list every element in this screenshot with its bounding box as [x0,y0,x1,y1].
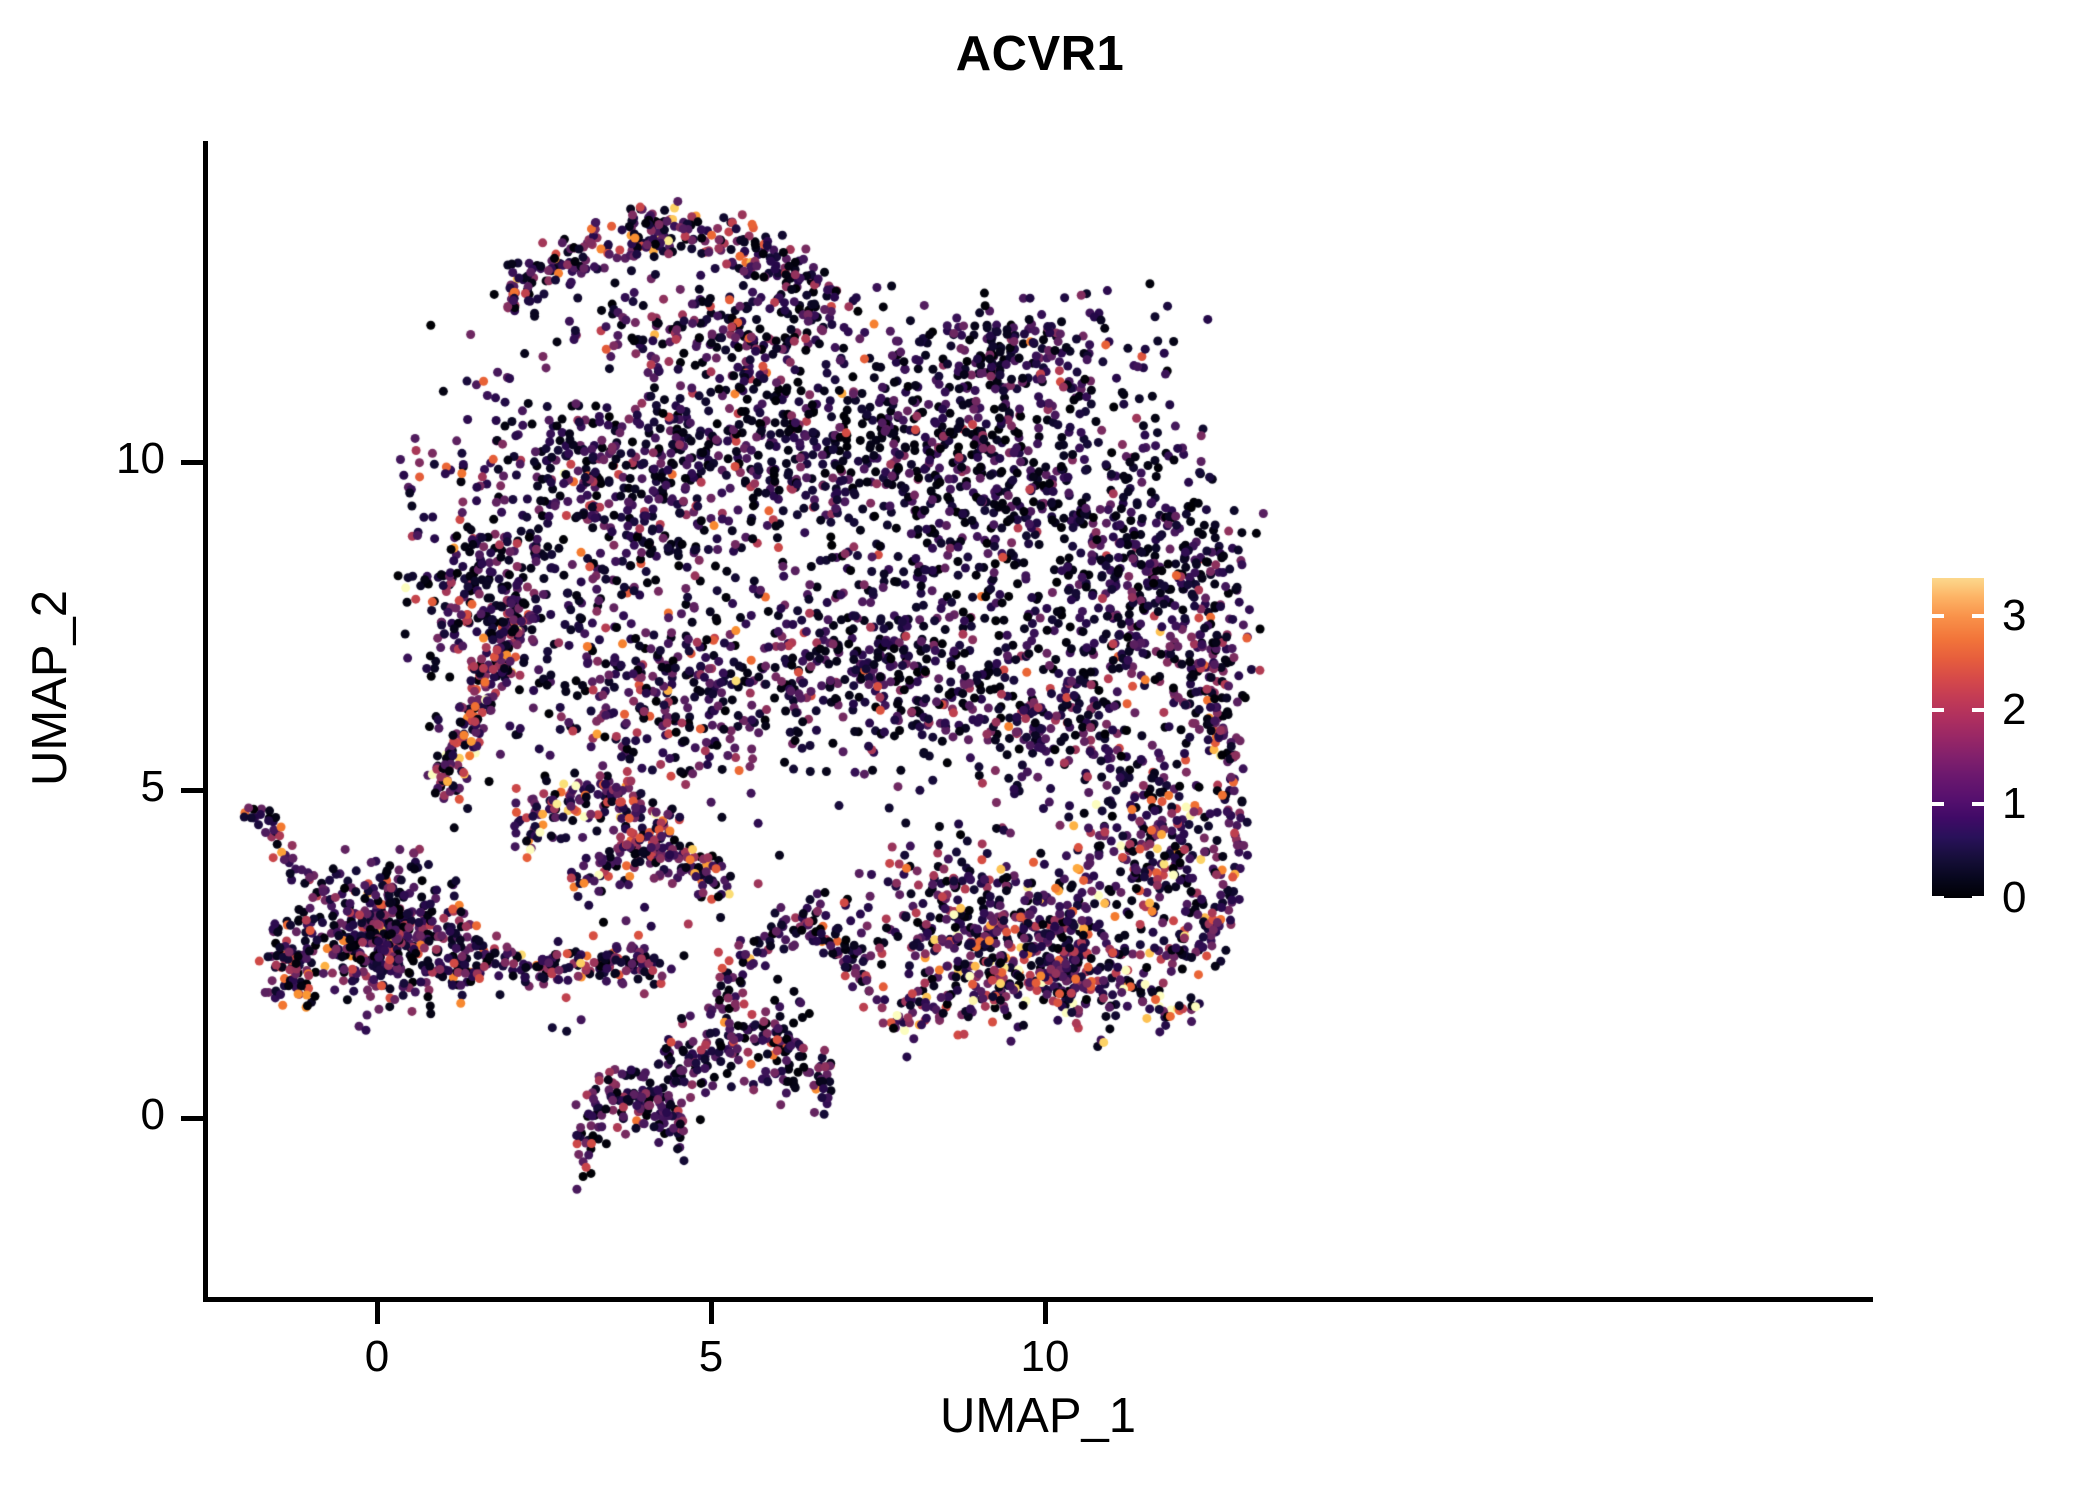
x-tick-mark [375,1302,380,1324]
colorbar-gradient [1932,578,1984,898]
x-tick-mark [1043,1302,1048,1324]
y-tick-mark [181,460,203,465]
colorbar-tick-mark [1972,708,1984,712]
colorbar-tick-mark [1932,802,1944,806]
y-axis-title: UMAP_2 [22,488,78,888]
figure-root: ACVR1 UMAP_2 UMAP_1 05100510 0123 [0,0,2100,1500]
y-tick-label: 0 [60,1090,165,1140]
y-tick-mark [181,1116,203,1121]
y-tick-label: 5 [60,762,165,812]
colorbar-tick-label: 0 [2002,876,2026,920]
colorbar-tick-mark [1932,896,1944,900]
x-tick-label: 0 [317,1332,437,1382]
colorbar-tick-mark [1972,896,1984,900]
colorbar-tick-label: 3 [2002,594,2026,638]
x-tick-label: 10 [985,1332,1105,1382]
page-title: ACVR1 [0,26,2080,82]
colorbar-tick-mark [1932,614,1944,618]
x-tick-mark [709,1302,714,1324]
colorbar-tick-mark [1972,802,1984,806]
colorbar-tick-label: 1 [2002,782,2026,826]
colorbar-tick-label: 2 [2002,688,2026,732]
colorbar-tick-mark [1932,708,1944,712]
y-tick-mark [181,788,203,793]
y-tick-label: 10 [60,434,165,484]
x-axis-title: UMAP_1 [203,1388,1873,1444]
colorbar-tick-mark [1972,614,1984,618]
scatter-plot-canvas [203,141,1873,1301]
colorbar-legend: 0123 [1932,578,1984,898]
x-tick-label: 5 [651,1332,771,1382]
